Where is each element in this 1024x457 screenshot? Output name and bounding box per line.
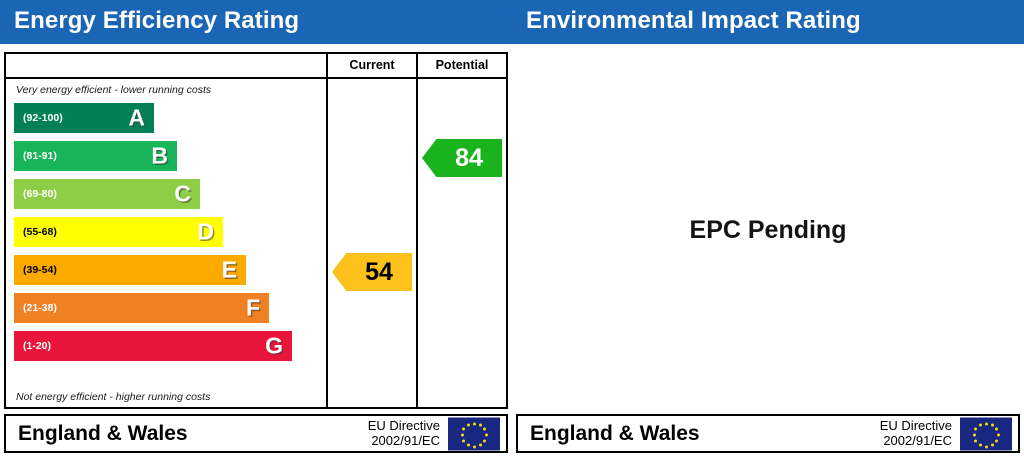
band-c-letter: C [174,183,191,206]
band-g-range: (1-20) [23,341,51,352]
epc-pending-message: EPC Pending [690,216,847,245]
column-header-potential: Potential [416,54,506,77]
column-divider-one [326,79,328,407]
column-divider-two [416,79,418,407]
column-header-current: Current [326,54,416,77]
rating-band-g: (1-20) G [14,331,292,361]
band-a-range: (92-100) [23,113,63,124]
environmental-impact-header: Environmental Impact Rating [512,0,1024,44]
left-footer-region: England & Wales [18,422,188,446]
current-rating-value: 54 [351,260,393,285]
rating-band-f: (21-38) F [14,293,269,323]
caption-very-efficient: Very energy efficient - lower running co… [16,84,211,96]
band-d-letter: D [197,221,214,244]
potential-rating-arrow: 84 [422,139,502,177]
rating-band-b: (81-91) B [14,141,177,171]
rating-bands-area: Very energy efficient - lower running co… [6,79,326,407]
left-directive-line-1: EU Directive [368,418,440,434]
right-footer-region: England & Wales [530,422,700,446]
band-c-range: (69-80) [23,189,57,200]
rating-band-a: (92-100) A [14,103,154,133]
potential-rating-value: 84 [441,146,483,171]
rating-band-d: (55-68) D [14,217,223,247]
right-footer: England & Wales EU Directive 2002/91/EC [516,414,1020,453]
right-directive-line-1: EU Directive [880,418,952,434]
epc-certificate-graphic: Energy Efficiency Rating Current Potenti… [0,0,1024,457]
chart-column-header-row: Current Potential [6,54,506,79]
eu-flag-icon [448,417,500,450]
eu-flag-icon [960,417,1012,450]
energy-efficiency-panel: Energy Efficiency Rating Current Potenti… [0,0,512,457]
band-b-range: (81-91) [23,151,57,162]
environmental-impact-body: EPC Pending [516,52,1020,409]
caption-not-efficient: Not energy efficient - higher running co… [16,391,210,403]
current-rating-arrow: 54 [332,253,412,291]
energy-efficiency-header: Energy Efficiency Rating [0,0,512,44]
environmental-impact-title: Environmental Impact Rating [526,7,861,35]
band-d-range: (55-68) [23,227,57,238]
energy-efficiency-title: Energy Efficiency Rating [14,7,299,35]
band-f-range: (21-38) [23,303,57,314]
band-b-letter: B [151,145,168,168]
left-footer-directive: EU Directive 2002/91/EC [368,418,440,450]
band-e-letter: E [222,259,237,282]
rating-band-e: (39-54) E [14,255,246,285]
band-f-letter: F [246,297,260,320]
right-footer-directive: EU Directive 2002/91/EC [880,418,952,450]
rating-band-c: (69-80) C [14,179,200,209]
energy-efficiency-chart: Current Potential Very energy efficient … [4,52,508,409]
environmental-impact-panel: Environmental Impact Rating EPC Pending … [512,0,1024,457]
band-e-range: (39-54) [23,265,57,276]
band-a-letter: A [128,107,145,130]
band-g-letter: G [265,335,283,358]
right-directive-line-2: 2002/91/EC [880,434,952,450]
left-footer: England & Wales EU Directive 2002/91/EC [4,414,508,453]
left-directive-line-2: 2002/91/EC [368,434,440,450]
